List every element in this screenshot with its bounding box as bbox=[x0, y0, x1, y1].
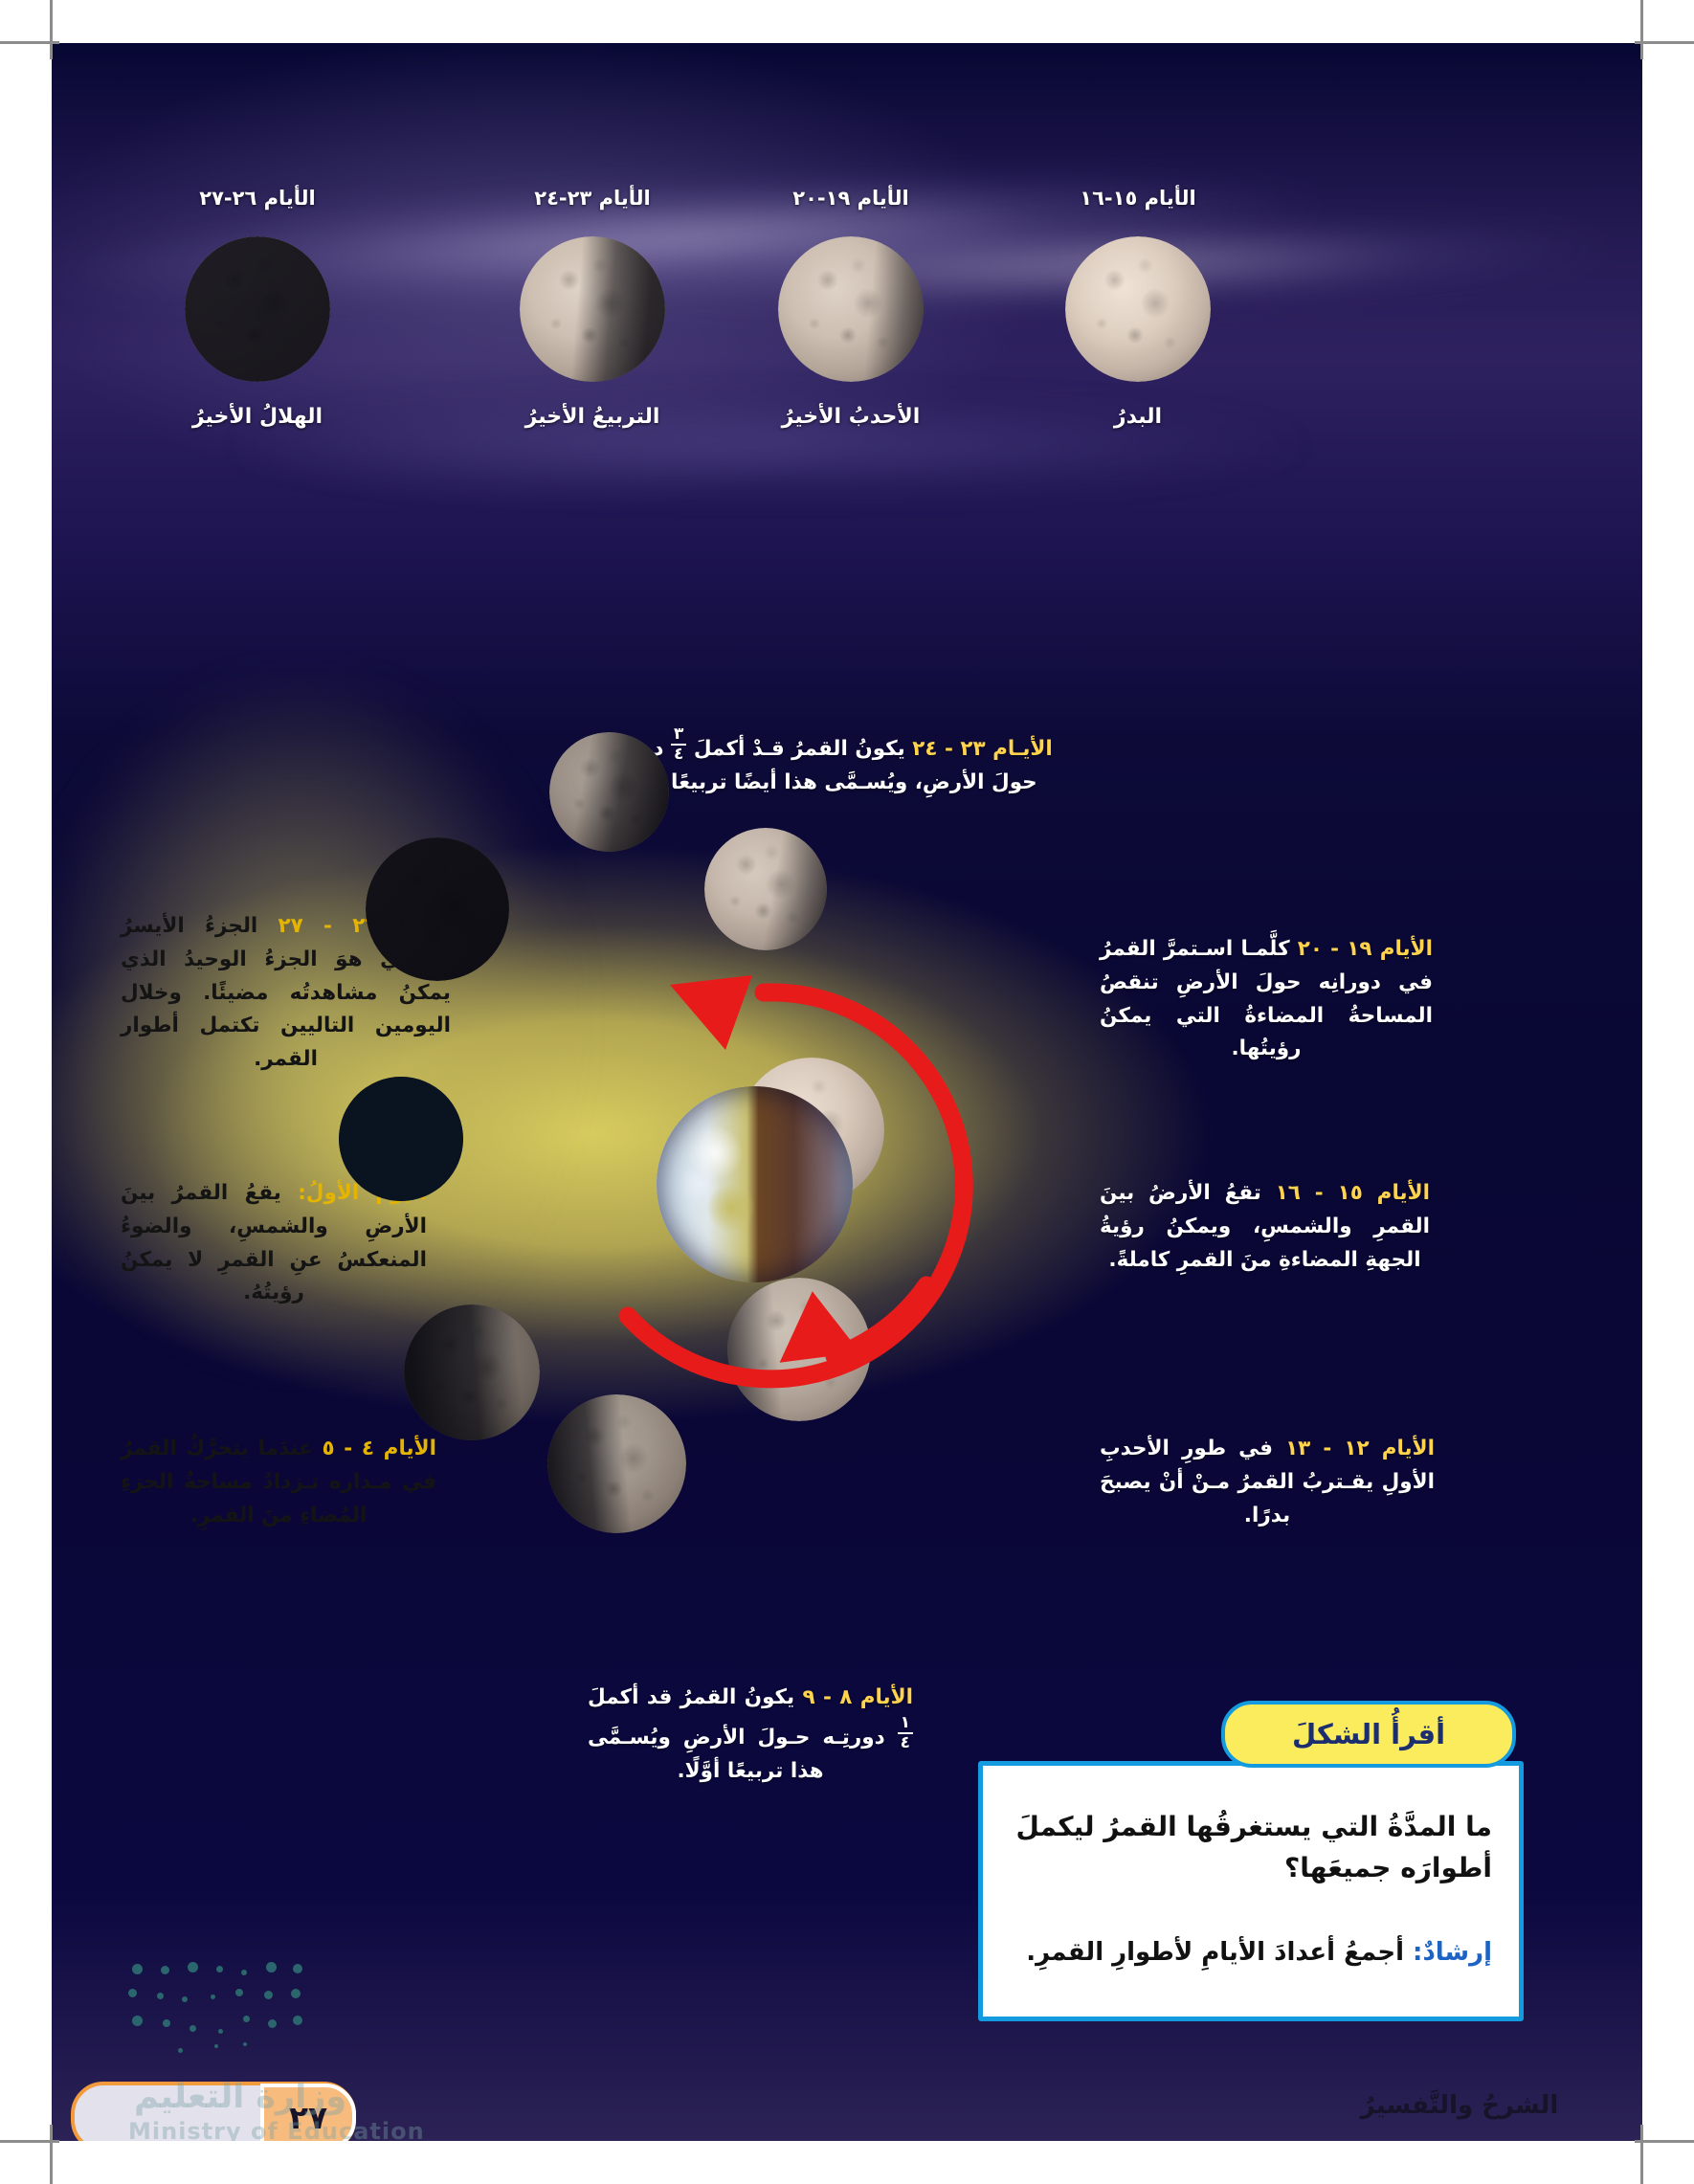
decorative-dot bbox=[218, 2029, 223, 2034]
strip-phase-label: الهلالُ الأخيرُ bbox=[128, 405, 387, 429]
decorative-dot bbox=[293, 1964, 302, 1973]
strip-day-label: الأيام ٢٦-٢٧ bbox=[128, 187, 387, 210]
callout-lead: الأيام ١٥ - ١٦ bbox=[1276, 1181, 1430, 1205]
read-figure-tab: أقرأُ الشكلَ bbox=[1221, 1701, 1516, 1768]
strip-item-full-moon: الأيام ١٥-١٦ البدرُ bbox=[1009, 187, 1267, 429]
decorative-dot bbox=[266, 1962, 277, 1972]
callout-body-a: يكونُ القمرُ قد أكملَ bbox=[588, 1685, 794, 1709]
decorative-dot bbox=[216, 1966, 223, 1972]
moon-icon bbox=[520, 236, 665, 382]
callout-body-a: يكونُ القمرُ قـدْ أكملَ bbox=[694, 737, 905, 761]
decorative-dot bbox=[188, 1962, 198, 1972]
footer-section-label: الشرحُ والتَّفسيرُ bbox=[1359, 2091, 1560, 2120]
crop-mark-bottom-right-v bbox=[1640, 2125, 1643, 2184]
strip-day-label: الأيام ١٥-١٦ bbox=[1009, 187, 1267, 210]
decorative-dot bbox=[214, 2044, 218, 2048]
circular-arrow-icon bbox=[547, 969, 980, 1402]
strip-phase-label: التربيعُ الأخيرُ bbox=[463, 405, 722, 429]
crop-mark-bottom-right-h bbox=[1635, 2140, 1694, 2143]
read-figure-tab-label: أقرأُ الشكلَ bbox=[1292, 1718, 1445, 1750]
read-figure-box: ما المدَّةُ التي يستغرقُها القمرُ ليكملَ… bbox=[978, 1761, 1524, 2021]
decorative-dot bbox=[132, 2016, 143, 2026]
decorative-dot bbox=[243, 2016, 250, 2022]
decorative-dot bbox=[211, 1995, 215, 1999]
crop-mark-bottom-left-h bbox=[0, 2140, 59, 2143]
page-number: ٢٧ bbox=[260, 2084, 356, 2141]
callout-lead: الأيـام ٢٣ - ٢٤ bbox=[912, 737, 1053, 761]
hint-text: أجمعُ أعدادَ الأيامِ لأطوارِ القمرِ. bbox=[1026, 1938, 1404, 1967]
decorative-dot bbox=[264, 1991, 273, 1999]
read-figure-question: ما المدَّةُ التي يستغرقُها القمرُ ليكملَ… bbox=[1014, 1806, 1492, 1889]
strip-phase-label: البدرُ bbox=[1009, 405, 1267, 429]
decorative-dot bbox=[182, 1996, 188, 2002]
moon-icon bbox=[1065, 236, 1211, 382]
crop-mark-top-left-h bbox=[0, 41, 59, 44]
fraction-one-quarter: ١٤ bbox=[898, 1715, 913, 1751]
decorative-dot bbox=[157, 1993, 164, 1999]
orbit-moon-day-4-5 bbox=[404, 1304, 540, 1440]
strip-day-label: الأيام ٢٣-٢٤ bbox=[463, 187, 722, 210]
decorative-dot bbox=[241, 1970, 247, 1975]
orbit-moon-day-26-27 bbox=[366, 837, 509, 981]
crop-mark-top-right-h bbox=[1635, 41, 1694, 44]
hint-label: إرشادٌ: bbox=[1413, 1938, 1492, 1967]
textbook-page: الأيام ٢٦-٢٧ الهلالُ الأخيرُ الأيام ٢٣-٢… bbox=[52, 43, 1642, 2141]
decorative-dot-pattern bbox=[123, 1960, 314, 2075]
moon-phase-strip: الأيام ٢٦-٢٧ الهلالُ الأخيرُ الأيام ٢٣-٢… bbox=[52, 187, 1642, 493]
decorative-dot bbox=[243, 2042, 247, 2046]
strip-item-last-quarter: الأيام ٢٣-٢٤ التربيعُ الأخيرُ bbox=[463, 187, 722, 429]
strip-item-last-gibbous: الأيام ١٩-٢٠ الأحدبُ الأخيرُ bbox=[722, 187, 980, 429]
read-figure-hint: إرشادٌ: أجمعُ أعدادَ الأيامِ لأطوارِ الق… bbox=[1014, 1934, 1492, 1972]
callout-body-b: دورتِـه حـولَ الأرضِ ويُسـمَّى هذا تربيع… bbox=[588, 1726, 885, 1783]
moon-icon bbox=[185, 236, 330, 382]
strip-item-last-crescent: الأيام ٢٦-٢٧ الهلالُ الأخيرُ bbox=[128, 187, 387, 429]
decorative-dot bbox=[132, 1964, 143, 1974]
orbit-moon-day-23-24 bbox=[549, 732, 669, 852]
strip-phase-label: الأحدبُ الأخيرُ bbox=[722, 405, 980, 429]
orbit-moon-day-1 bbox=[339, 1077, 463, 1201]
decorative-dot bbox=[235, 1989, 243, 1996]
decorative-dot bbox=[163, 2019, 170, 2027]
decorative-dot bbox=[128, 1989, 137, 1997]
orbit-moon-day-19-20 bbox=[704, 828, 827, 950]
callout-lead: الأيام ١٩ - ٢٠ bbox=[1298, 937, 1433, 961]
fraction-three-quarters: ٣٤ bbox=[671, 726, 686, 763]
moon-orbit-diagram bbox=[339, 770, 1200, 1613]
orbit-moon-day-8-9 bbox=[547, 1394, 686, 1533]
crop-mark-top-left-v bbox=[50, 0, 53, 59]
decorative-dot bbox=[268, 2019, 277, 2028]
decorative-dot bbox=[293, 2016, 302, 2025]
decorative-dot bbox=[291, 1989, 301, 1998]
crop-mark-top-right-v bbox=[1640, 0, 1643, 59]
decorative-dot bbox=[161, 1966, 169, 1974]
crop-mark-bottom-left-v bbox=[50, 2125, 53, 2184]
decorative-dot bbox=[178, 2048, 183, 2053]
callout-lead: الأيام ١٢ - ١٣ bbox=[1285, 1437, 1435, 1460]
callout-lead: الأيام ٨ - ٩ bbox=[802, 1685, 913, 1709]
decorative-dot bbox=[189, 2025, 196, 2032]
strip-day-label: الأيام ١٩-٢٠ bbox=[722, 187, 980, 210]
callout-days-8-9: الأيام ٨ - ٩ يكونُ القمرُ قد أكملَ ١٤ دو… bbox=[588, 1682, 913, 1788]
moon-icon bbox=[778, 236, 924, 382]
